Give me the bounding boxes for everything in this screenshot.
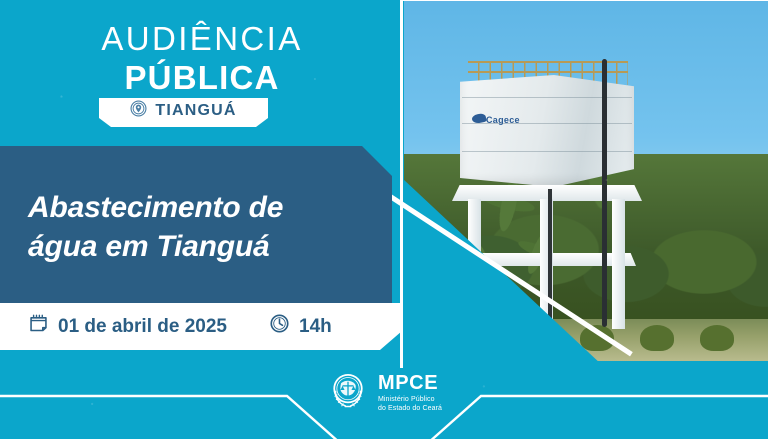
mpce-acronym: MPCE <box>378 373 438 393</box>
poster-canvas: Cagece AUDIÊNCIA PÚBLICA TIANGUÁ <box>0 0 768 439</box>
tower-column <box>612 199 625 329</box>
title-banner: Abastecimento de água em Tianguá <box>0 146 392 303</box>
bush-shape <box>700 325 734 351</box>
page-kicker-line1: AUDIÊNCIA <box>0 20 404 58</box>
bush-shape <box>640 325 674 351</box>
event-time-label: 14h <box>299 316 332 338</box>
calendar-icon <box>28 313 49 340</box>
tower-pipe <box>548 189 552 329</box>
mpce-wordmark: MPCE Ministério Público do Estado do Cea… <box>378 373 442 412</box>
tower-tank <box>460 75 634 187</box>
page-title: Abastecimento de água em Tianguá <box>28 188 358 266</box>
mpce-subtitle-line1: Ministério Público <box>378 396 435 403</box>
clock-icon <box>269 313 290 340</box>
mpce-subtitle-line2: do Estado do Ceará <box>378 405 442 412</box>
cagece-wordmark: Cagece <box>486 115 520 125</box>
location-pin-icon <box>130 100 147 122</box>
event-time: 14h <box>269 313 332 340</box>
event-date: 01 de abril de 2025 <box>28 313 227 340</box>
mpce-emblem-icon <box>326 368 370 417</box>
tower-pipe <box>602 59 607 327</box>
page-title-line2: água em Tianguá <box>28 227 358 266</box>
page-kicker-line2: PÚBLICA <box>0 59 404 97</box>
city-badge: TIANGUÁ <box>99 98 268 127</box>
event-datetime-bar: 01 de abril de 2025 14h <box>0 303 402 350</box>
city-badge-label: TIANGUÁ <box>155 102 236 120</box>
event-date-label: 01 de abril de 2025 <box>58 316 227 338</box>
page-title-line1: Abastecimento de <box>28 188 358 227</box>
mpce-logo: MPCE Ministério Público do Estado do Cea… <box>0 368 768 417</box>
